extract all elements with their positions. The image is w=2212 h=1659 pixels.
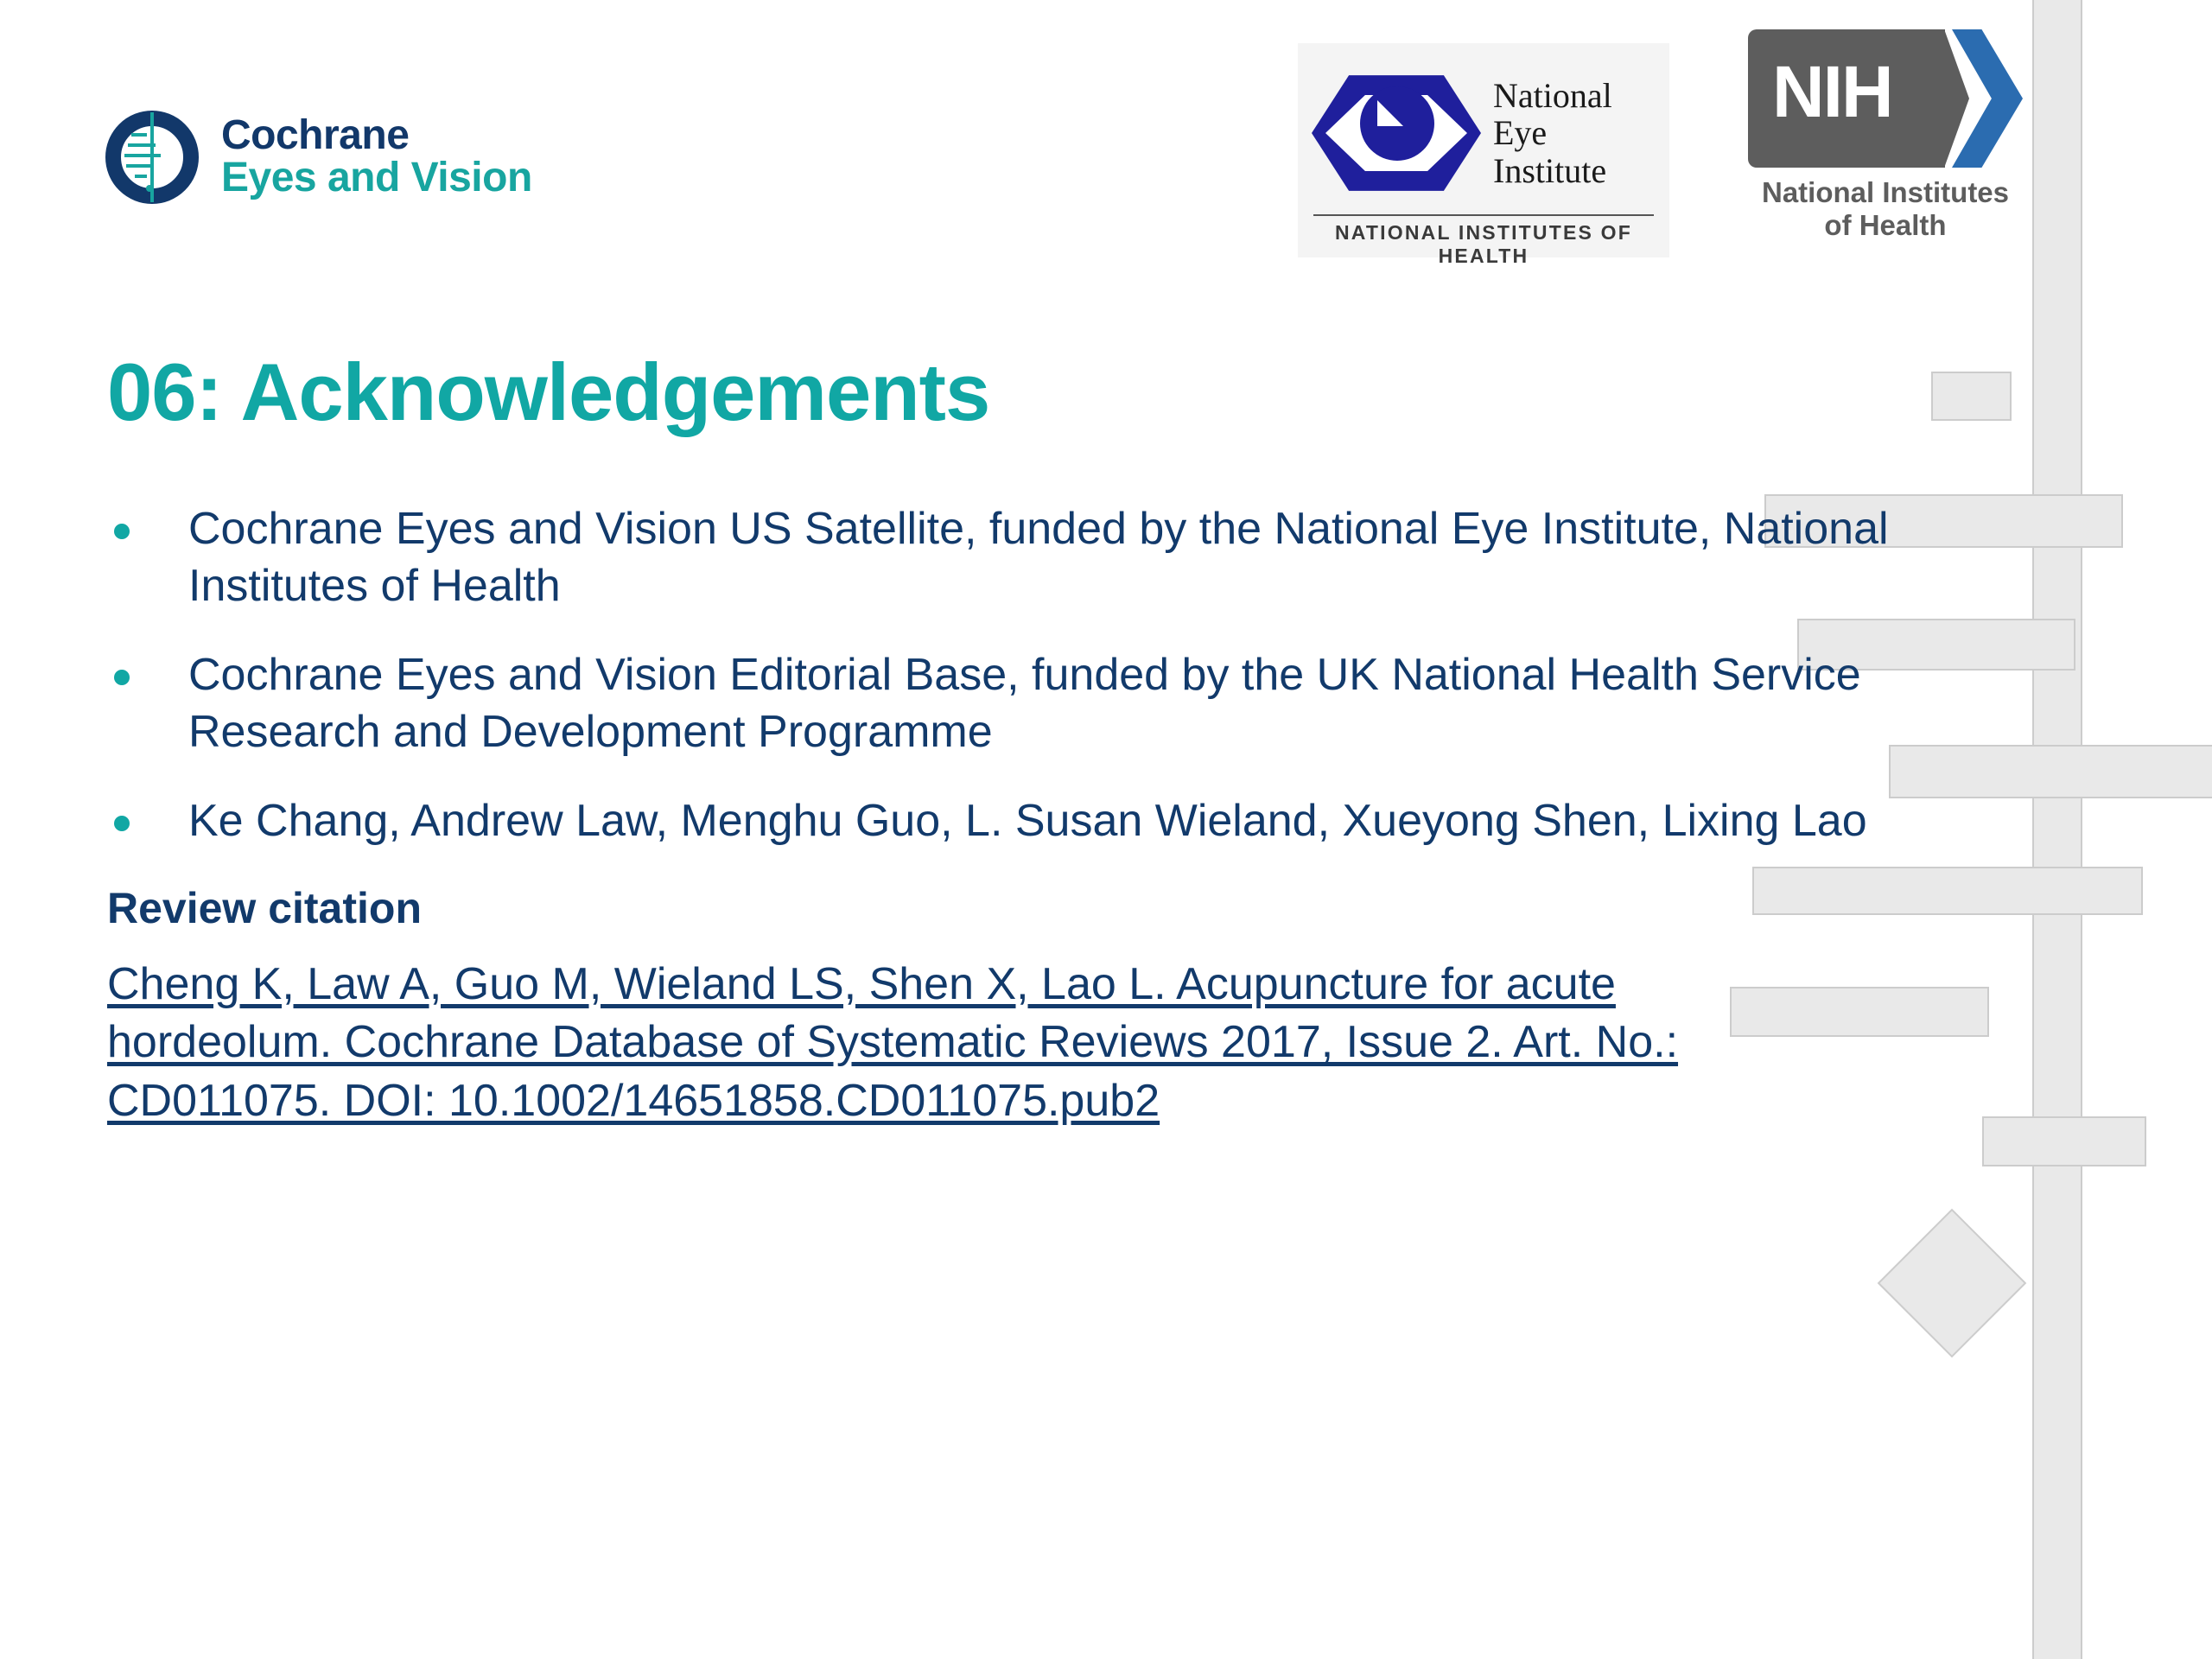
- logo-row: Cochrane Eyes and Vision National Eye In…: [0, 0, 2022, 294]
- nei-wordmark-line2: Eye: [1493, 114, 1612, 151]
- list-item: Cochrane Eyes and Vision US Satellite, f…: [107, 501, 1922, 614]
- nih-chevron-icon: NIH: [1748, 29, 2023, 168]
- nei-divider: [1313, 214, 1654, 216]
- bullet-icon: [114, 670, 130, 685]
- nih-wordmark-line2: of Health: [1730, 209, 2041, 242]
- national-eye-institute-logo: National Eye Institute NATIONAL INSTITUT…: [1298, 43, 1669, 257]
- nei-footer-text: NATIONAL INSTITUTES OF HEALTH: [1312, 221, 1656, 268]
- bullet-text-2: Cochrane Eyes and Vision Editorial Base,…: [188, 647, 1916, 760]
- nih-acronym: NIH: [1772, 55, 1892, 128]
- slide-body: Cochrane Eyes and Vision US Satellite, f…: [107, 501, 1922, 1130]
- decorative-diamond: [1878, 1209, 2027, 1358]
- bullet-icon: [114, 816, 130, 831]
- nih-wordmark-line1: National Institutes: [1730, 176, 2041, 209]
- nih-logo: NIH National Institutes of Health: [1730, 29, 2041, 263]
- bullet-icon: [114, 524, 130, 539]
- decorative-bar-6: [1982, 1116, 2146, 1166]
- cochrane-wordmark-line2: Eyes and Vision: [221, 157, 532, 200]
- review-citation-link[interactable]: Cheng K, Law A, Guo M, Wieland LS, Shen …: [107, 956, 1844, 1131]
- slide-canvas: Cochrane Eyes and Vision National Eye In…: [0, 0, 2212, 1659]
- review-citation-heading: Review citation: [107, 883, 1922, 933]
- nei-wordmark-line3: Institute: [1493, 152, 1612, 189]
- bullet-text-1: Cochrane Eyes and Vision US Satellite, f…: [188, 501, 1899, 614]
- decorative-bar-3: [1889, 745, 2212, 798]
- list-item: Cochrane Eyes and Vision Editorial Base,…: [107, 647, 1922, 760]
- page-title: 06: Acknowledgements: [107, 346, 989, 439]
- cochrane-eyes-and-vision-logo: Cochrane Eyes and Vision: [105, 111, 532, 204]
- decorative-rect-small-top: [1931, 372, 2012, 421]
- bullet-text-3: Ke Chang, Andrew Law, Menghu Guo, L. Sus…: [188, 793, 1867, 850]
- list-item: Ke Chang, Andrew Law, Menghu Guo, L. Sus…: [107, 793, 1922, 850]
- eye-icon: [1312, 60, 1481, 206]
- cochrane-forest-plot-icon: [105, 111, 199, 204]
- cochrane-wordmark-line1: Cochrane: [221, 115, 532, 157]
- nei-wordmark-line1: National: [1493, 77, 1612, 114]
